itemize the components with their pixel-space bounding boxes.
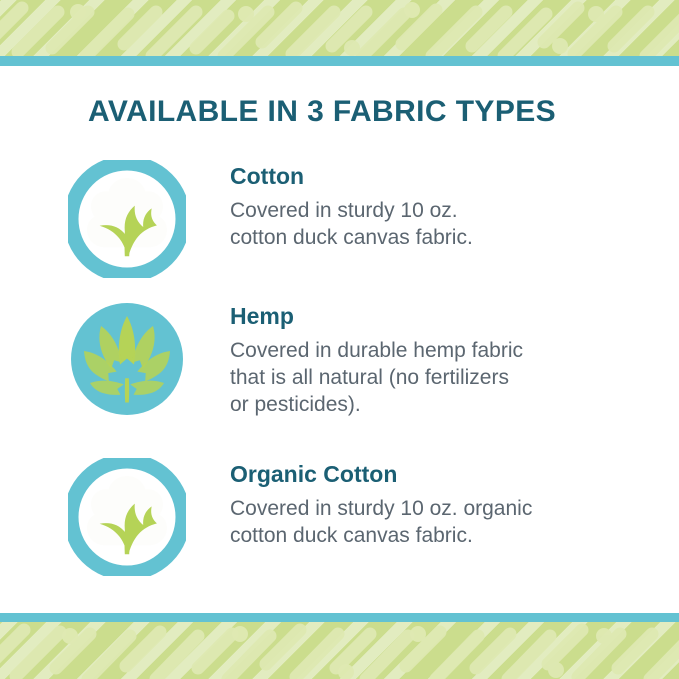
cotton-boll-icon bbox=[68, 458, 186, 576]
list-item: Hemp Covered in durable hemp fabric that… bbox=[0, 292, 679, 450]
page-title: AVAILABLE IN 3 FABRIC TYPES bbox=[88, 95, 556, 129]
bottom-banner-pattern bbox=[0, 622, 679, 679]
fabric-description: Covered in durable hemp fabric that is a… bbox=[230, 338, 523, 418]
fabric-text-block: Hemp Covered in durable hemp fabric that… bbox=[230, 292, 523, 418]
description-line: Covered in sturdy 10 oz. organic bbox=[230, 496, 532, 523]
description-line: or pesticides). bbox=[230, 392, 523, 419]
fabric-name: Hemp bbox=[230, 304, 523, 329]
fabric-description: Covered in sturdy 10 oz. organic cotton … bbox=[230, 496, 532, 549]
description-line: Covered in sturdy 10 oz. bbox=[230, 198, 473, 225]
description-line: Covered in durable hemp fabric bbox=[230, 338, 523, 365]
fabric-text-block: Organic Cotton Covered in sturdy 10 oz. … bbox=[230, 450, 532, 550]
fabric-name: Cotton bbox=[230, 164, 473, 189]
list-item: Organic Cotton Covered in sturdy 10 oz. … bbox=[0, 450, 679, 580]
rounded-dash-pattern-icon bbox=[0, 622, 679, 679]
bottom-banner bbox=[0, 613, 679, 679]
fabric-text-block: Cotton Covered in sturdy 10 oz. cotton d… bbox=[230, 152, 473, 252]
main-content: AVAILABLE IN 3 FABRIC TYPES Cotton Cover… bbox=[0, 66, 679, 613]
fabric-name: Organic Cotton bbox=[230, 462, 532, 487]
list-item: Cotton Covered in sturdy 10 oz. cotton d… bbox=[0, 152, 679, 292]
description-line: that is all natural (no fertilizers bbox=[230, 365, 523, 392]
rounded-dash-pattern-icon bbox=[0, 0, 679, 56]
hemp-leaf-icon bbox=[68, 300, 186, 418]
top-teal-divider bbox=[0, 56, 679, 66]
fabric-description: Covered in sturdy 10 oz. cotton duck can… bbox=[230, 198, 473, 251]
top-banner-pattern bbox=[0, 0, 679, 56]
fabric-type-list: Cotton Covered in sturdy 10 oz. cotton d… bbox=[0, 152, 679, 580]
top-banner bbox=[0, 0, 679, 66]
cotton-boll-icon bbox=[68, 160, 186, 278]
description-line: cotton duck canvas fabric. bbox=[230, 523, 532, 550]
description-line: cotton duck canvas fabric. bbox=[230, 225, 473, 252]
fabric-types-infographic: AVAILABLE IN 3 FABRIC TYPES Cotton Cover… bbox=[0, 0, 679, 679]
